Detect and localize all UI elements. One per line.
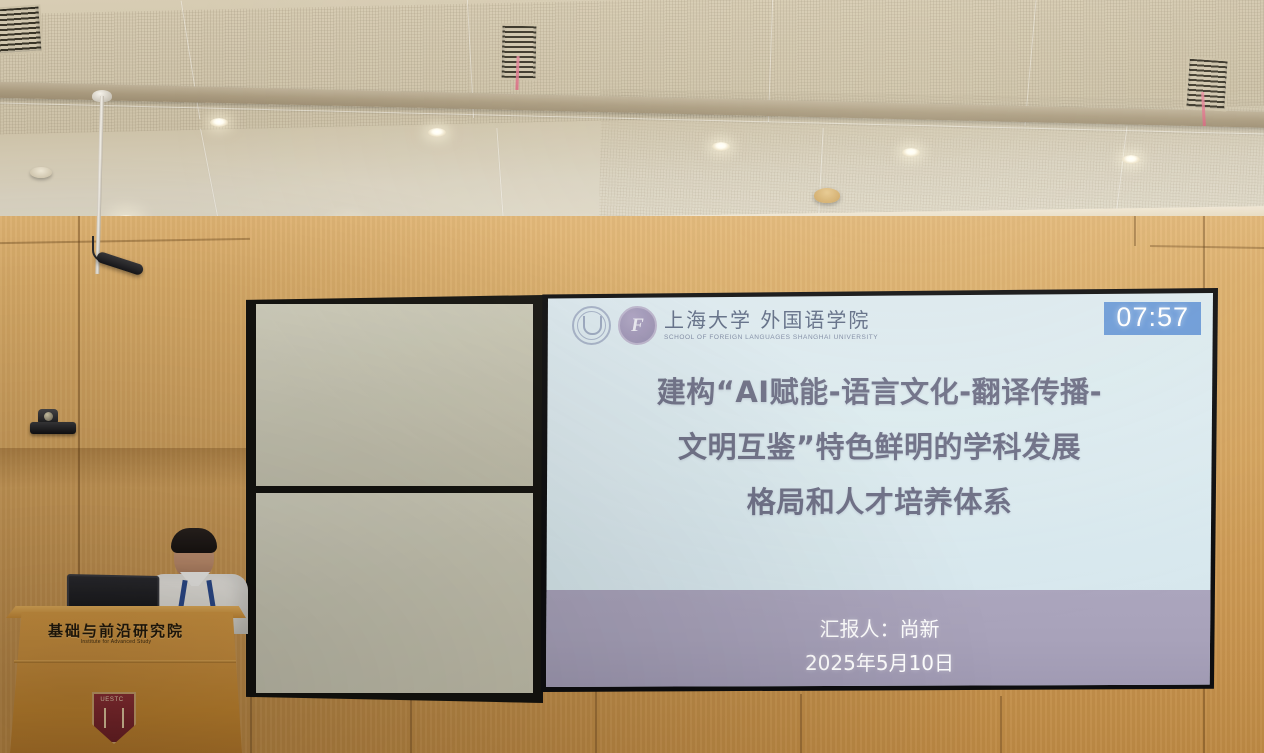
board-panel-top bbox=[256, 304, 533, 486]
institution-name-block: 上海大学 外国语学院 SCHOOL OF FOREIGN LANGUAGES S… bbox=[664, 310, 878, 341]
wall-panel-seam bbox=[595, 690, 597, 753]
slide-title-line-3: 格局和人才培养体系 bbox=[546, 475, 1213, 530]
shanghai-university-seal-icon bbox=[572, 306, 611, 345]
slide-date: 2025年5月10日 bbox=[546, 646, 1213, 680]
wall-panel-seam bbox=[1000, 696, 1002, 753]
slide-presenter: 汇报人：尚新 bbox=[546, 612, 1213, 646]
presentation-slide: F 上海大学 外国语学院 SCHOOL OF FOREIGN LANGUAGES… bbox=[546, 293, 1213, 687]
smoke-detector-icon bbox=[30, 167, 52, 178]
air-vent-icon bbox=[0, 4, 44, 55]
seal-u-mark bbox=[583, 316, 602, 335]
wall-shadow bbox=[0, 448, 250, 488]
wall-panel-seam bbox=[800, 694, 802, 753]
countdown-timer: 07:57 bbox=[1104, 302, 1201, 335]
presenter-hair bbox=[171, 528, 217, 553]
podium-trim bbox=[14, 660, 236, 663]
wall-panel-seam bbox=[1134, 216, 1136, 246]
slide-title-line-2: 文明互鉴”特色鲜明的学科发展 bbox=[546, 420, 1213, 475]
wall-camera-mount bbox=[30, 422, 76, 434]
ceiling-downlight bbox=[712, 142, 730, 151]
ceiling-downlight bbox=[210, 118, 228, 127]
air-vent-icon bbox=[1184, 57, 1230, 112]
projection-screen-surface: F 上海大学 外国语学院 SCHOOL OF FOREIGN LANGUAGES… bbox=[546, 293, 1213, 687]
podium-title-cn: 基础与前沿研究院 bbox=[0, 620, 232, 641]
badge-f-glyph: F bbox=[620, 308, 655, 343]
slide-title-line-1: 建构“AI赋能-语言文化-翻译传播- bbox=[546, 365, 1213, 420]
podium-emblem-mark bbox=[104, 708, 124, 728]
projection-screen[interactable]: F 上海大学 外国语学院 SCHOOL OF FOREIGN LANGUAGES… bbox=[541, 288, 1218, 692]
ceiling-downlight bbox=[428, 128, 446, 137]
slide-title: 建构“AI赋能-语言文化-翻译传播- 文明互鉴”特色鲜明的学科发展 格局和人才培… bbox=[546, 365, 1213, 530]
podium-title-en: Institute for Advanced Study bbox=[0, 639, 232, 645]
wall-mounted-board bbox=[246, 295, 543, 703]
slide-header: F 上海大学 外国语学院 SCHOOL OF FOREIGN LANGUAGES… bbox=[546, 293, 1213, 355]
ceiling-speaker-icon bbox=[814, 188, 840, 203]
ceiling-downlight bbox=[902, 148, 920, 157]
school-of-foreign-languages-badge-icon: F bbox=[618, 306, 657, 345]
university-name-en: SCHOOL OF FOREIGN LANGUAGES SHANGHAI UNI… bbox=[664, 334, 878, 341]
wall-camera-lens-icon bbox=[44, 412, 53, 421]
slide-footer: 汇报人：尚新 2025年5月10日 bbox=[546, 590, 1213, 687]
ceiling-downlight bbox=[1122, 155, 1140, 164]
university-name-cn: 上海大学 外国语学院 bbox=[664, 310, 878, 331]
board-panel-bottom bbox=[256, 493, 533, 693]
institution-logo-group: F 上海大学 外国语学院 SCHOOL OF FOREIGN LANGUAGES… bbox=[572, 306, 878, 345]
presentation-room-photo: F 上海大学 外国语学院 SCHOOL OF FOREIGN LANGUAGES… bbox=[0, 0, 1264, 753]
podium-emblem-label: UESTC bbox=[92, 697, 132, 703]
ceiling bbox=[0, 0, 1264, 232]
